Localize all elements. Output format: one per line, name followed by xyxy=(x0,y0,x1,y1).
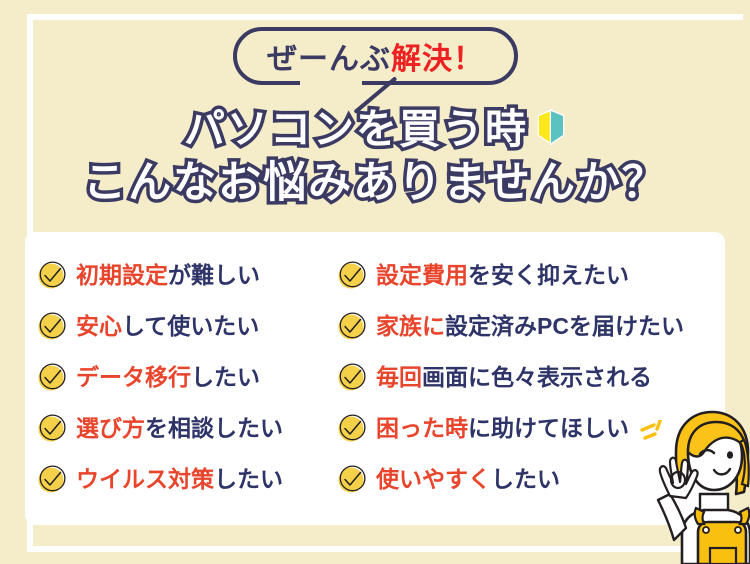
list-item-rest: したい xyxy=(191,364,260,390)
speech-bubble-text-plain: ぜーんぶ xyxy=(267,34,391,78)
check-circle-icon xyxy=(37,413,67,443)
speech-bubble-text: ぜーんぶ解決！ xyxy=(233,27,518,85)
headline-line-1-text: パソコンを買う時 xyxy=(184,104,528,156)
list-item-label: 選び方を相談したい xyxy=(76,417,283,440)
list-item-highlight: ウイルス対策 xyxy=(76,466,214,492)
list-item-highlight: 初期設定 xyxy=(76,262,168,288)
list-item: 家族に設定済みPCを届けたい xyxy=(337,301,725,351)
check-circle-icon xyxy=(37,260,67,290)
page-title: パソコンを買う時 こんなお悩みありませんか？ xyxy=(0,104,750,210)
list-item-highlight: データ移行 xyxy=(76,364,191,390)
list-item-label: 設定費用を安く抑えたい xyxy=(376,264,629,287)
beginner-leaf-badge-icon xyxy=(536,108,566,146)
list-item-label: 家族に設定済みPCを届けたい xyxy=(376,315,684,338)
list-item: 選び方を相談したい xyxy=(37,403,337,453)
check-circle-icon xyxy=(37,464,67,494)
speech-bubble-text-accent: 解決！ xyxy=(391,34,484,78)
list-item-rest: したい xyxy=(491,466,560,492)
list-item: 設定費用を安く抑えたい xyxy=(337,250,725,300)
list-item-label: 使いやすくしたい xyxy=(376,468,560,491)
list-item-rest: したい xyxy=(214,466,283,492)
list-item-label: 安心して使いたい xyxy=(76,315,259,338)
list-item-rest: 設定済みPCを届けたい xyxy=(445,313,684,339)
list-item-highlight: 使いやすく xyxy=(376,466,491,492)
list-item: ウイルス対策したい xyxy=(37,454,337,504)
list-item-highlight: 困った時 xyxy=(376,415,468,441)
list-item-rest: 画面に色々表示される xyxy=(422,364,652,390)
list-item: データ移行したい xyxy=(37,352,337,402)
headline-line-2: こんなお悩みありませんか？ xyxy=(0,156,750,210)
list-item-label: データ移行したい xyxy=(76,366,260,389)
concerns-card: 初期設定が難しい 安心して使いたい xyxy=(25,232,725,525)
list-item-rest: に助けてほしい xyxy=(468,415,629,441)
check-circle-icon xyxy=(337,260,367,290)
speech-bubble: ぜーんぶ解決！ xyxy=(233,27,518,85)
check-circle-icon xyxy=(337,311,367,341)
list-item-highlight: 選び方 xyxy=(76,415,145,441)
list-item-label: 困った時に助けてほしい xyxy=(376,417,629,440)
list-item-rest: して使いたい xyxy=(122,313,259,339)
list-item-label: 初期設定が難しい xyxy=(76,264,260,287)
list-item-highlight: 家族に xyxy=(376,313,445,339)
list-item-label: ウイルス対策したい xyxy=(76,468,283,491)
list-item: 毎回画面に色々表示される xyxy=(337,352,725,402)
list-item: 初期設定が難しい xyxy=(37,250,337,300)
speech-bubble-tail-mask xyxy=(300,79,362,87)
list-item-rest: が難しい xyxy=(168,262,260,288)
list-item: 使いやすくしたい xyxy=(337,454,725,504)
banner-root: ぜーんぶ解決！ パソコンを買う時 こんなお悩みありませんか？ xyxy=(0,0,750,564)
list-item-highlight: 毎回 xyxy=(376,364,422,390)
check-circle-icon xyxy=(337,464,367,494)
headline-line-1: パソコンを買う時 xyxy=(0,104,750,156)
list-item-highlight: 安心 xyxy=(76,313,122,339)
check-circle-icon xyxy=(337,362,367,392)
concerns-right-column: 設定費用を安く抑えたい 家族に設定済みPCを届けたい xyxy=(337,250,725,505)
list-item: 困った時に助けてほしい xyxy=(337,403,725,453)
concerns-left-column: 初期設定が難しい 安心して使いたい xyxy=(37,250,337,505)
list-item-highlight: 設定費用 xyxy=(376,262,468,288)
list-item-rest: を相談したい xyxy=(145,415,283,441)
check-circle-icon xyxy=(37,362,67,392)
check-circle-icon xyxy=(37,311,67,341)
check-circle-icon xyxy=(337,413,367,443)
list-item-rest: を安く抑えたい xyxy=(468,262,629,288)
list-item: 安心して使いたい xyxy=(37,301,337,351)
list-item-label: 毎回画面に色々表示される xyxy=(376,366,652,389)
